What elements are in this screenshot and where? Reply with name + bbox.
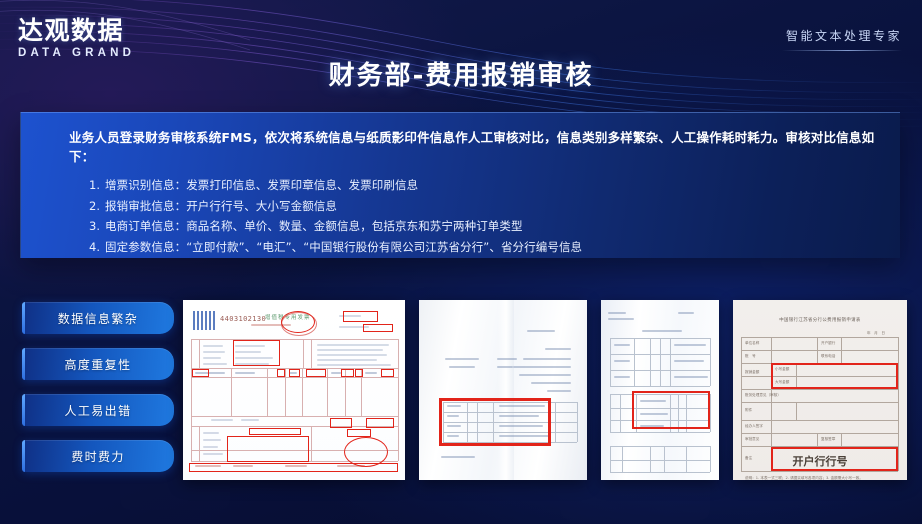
slide-root: 达观数据 DATA GRAND 智能文本处理专家 财务部-费用报销审核 业务人员… bbox=[0, 0, 922, 524]
info-panel: 业务人员登录财务审核系统FMS，依次将系统信息与纸质影印件信息作人工审核对比，信… bbox=[20, 112, 900, 258]
document-thumbnail-row: 4403102130 增值税专用发票 bbox=[183, 300, 905, 480]
tag-label: 费时费力 bbox=[71, 448, 125, 465]
doc-thumbnail-reimbursement-approval[interactable] bbox=[419, 300, 587, 480]
annotation-box bbox=[192, 369, 209, 377]
annotation-box bbox=[277, 369, 285, 377]
annotation-box bbox=[343, 311, 378, 322]
list-item: 3. 电商订单信息：商品名称、单价、数量、金额信息，包括京东和苏宁两种订单类型 bbox=[49, 217, 878, 238]
annotation-circle bbox=[344, 437, 388, 467]
brand-logo: 达观数据 DATA GRAND bbox=[18, 18, 178, 59]
list-item-text: 固定参数信息：“立即付款”、“电汇”、“中国银行股份有限公司江苏省分行”、省分行… bbox=[105, 240, 582, 256]
list-item-text: 电商订单信息：商品名称、单价、数量、金额信息，包括京东和苏宁两种订单类型 bbox=[105, 219, 523, 235]
list-item: 2. 报销审批信息：开户行行号、大小写金额信息 bbox=[49, 196, 878, 217]
annotation-box bbox=[632, 391, 710, 429]
approval-form-render bbox=[427, 308, 581, 474]
order-doc-heading bbox=[606, 323, 714, 327]
tag-time-consuming[interactable]: 费时费力 bbox=[22, 440, 174, 472]
list-item-number: 2. bbox=[89, 199, 105, 215]
vat-invoice-render: 4403102130 增值税专用发票 bbox=[189, 306, 401, 475]
brand-logo-cn: 达观数据 bbox=[18, 18, 178, 44]
tag-label: 数据信息繁杂 bbox=[58, 310, 138, 327]
annotation-box bbox=[363, 324, 393, 332]
tag-error-prone[interactable]: 人工易出错 bbox=[22, 394, 174, 426]
annotation-box bbox=[771, 363, 898, 389]
tag-high-repetition[interactable]: 高度重复性 bbox=[22, 348, 174, 380]
doc-thumbnail-vat-invoice[interactable]: 4403102130 增值税专用发票 bbox=[183, 300, 405, 480]
list-item: 1. 增票识别信息：发票打印信息、发票印章信息、发票印刷信息 bbox=[49, 176, 878, 197]
brand-tagline: 智能文本处理专家 bbox=[782, 27, 902, 51]
list-item: 4. 固定参数信息：“立即付款”、“电汇”、“中国银行股份有限公司江苏省分行”、… bbox=[49, 237, 878, 258]
tagline-divider bbox=[782, 50, 902, 51]
list-item-number: 1. bbox=[89, 178, 105, 194]
annotation-box bbox=[771, 447, 898, 471]
annotation-box bbox=[366, 418, 394, 428]
annotation-box bbox=[233, 340, 280, 366]
info-panel-heading: 业务人员登录财务审核系统FMS，依次将系统信息与纸质影印件信息作人工审核对比，信… bbox=[69, 129, 878, 167]
list-item-number: 4. bbox=[89, 240, 105, 256]
list-item-text: 报销审批信息：开户行行号、大小写金额信息 bbox=[105, 199, 337, 215]
info-panel-list: 1. 增票识别信息：发票打印信息、发票印章信息、发票印刷信息 2. 报销审批信息… bbox=[49, 176, 878, 258]
ecommerce-order-render bbox=[606, 306, 714, 475]
annotation-box bbox=[227, 436, 309, 462]
page-title: 财务部-费用报销审核 bbox=[0, 55, 922, 92]
bank-form-render: 中国银行江苏省分行公费用报销申请表 年 月 日 bbox=[741, 308, 899, 474]
tag-data-complexity[interactable]: 数据信息繁杂 bbox=[22, 302, 174, 334]
invoice-qr-code bbox=[193, 311, 215, 330]
list-item-number: 3. bbox=[89, 219, 105, 235]
annotation-box bbox=[249, 428, 301, 435]
annotation-box bbox=[381, 369, 394, 377]
annotation-box bbox=[341, 369, 354, 377]
annotation-box bbox=[439, 398, 551, 446]
brand-tagline-text: 智能文本处理专家 bbox=[782, 27, 902, 44]
list-item-text: 增票识别信息：发票打印信息、发票印章信息、发票印刷信息 bbox=[105, 178, 418, 194]
doc-thumbnail-bank-transfer-form[interactable]: 中国银行江苏省分行公费用报销申请表 年 月 日 bbox=[733, 300, 907, 480]
tag-label: 高度重复性 bbox=[64, 356, 131, 373]
tag-label: 人工易出错 bbox=[64, 402, 131, 419]
doc-thumbnail-ecommerce-order[interactable] bbox=[601, 300, 719, 480]
pain-point-tag-list: 数据信息繁杂 高度重复性 人工易出错 费时费力 bbox=[22, 302, 174, 486]
annotation-box bbox=[347, 429, 371, 437]
annotation-box bbox=[306, 369, 326, 377]
annotation-box bbox=[330, 418, 352, 428]
annotation-circle bbox=[281, 311, 315, 333]
annotation-box bbox=[289, 369, 300, 377]
annotation-box bbox=[355, 369, 363, 377]
bank-form-title: 中国银行江苏省分行公费用报销申请表 bbox=[741, 317, 899, 323]
invoice-number: 4403102130 bbox=[220, 315, 266, 323]
